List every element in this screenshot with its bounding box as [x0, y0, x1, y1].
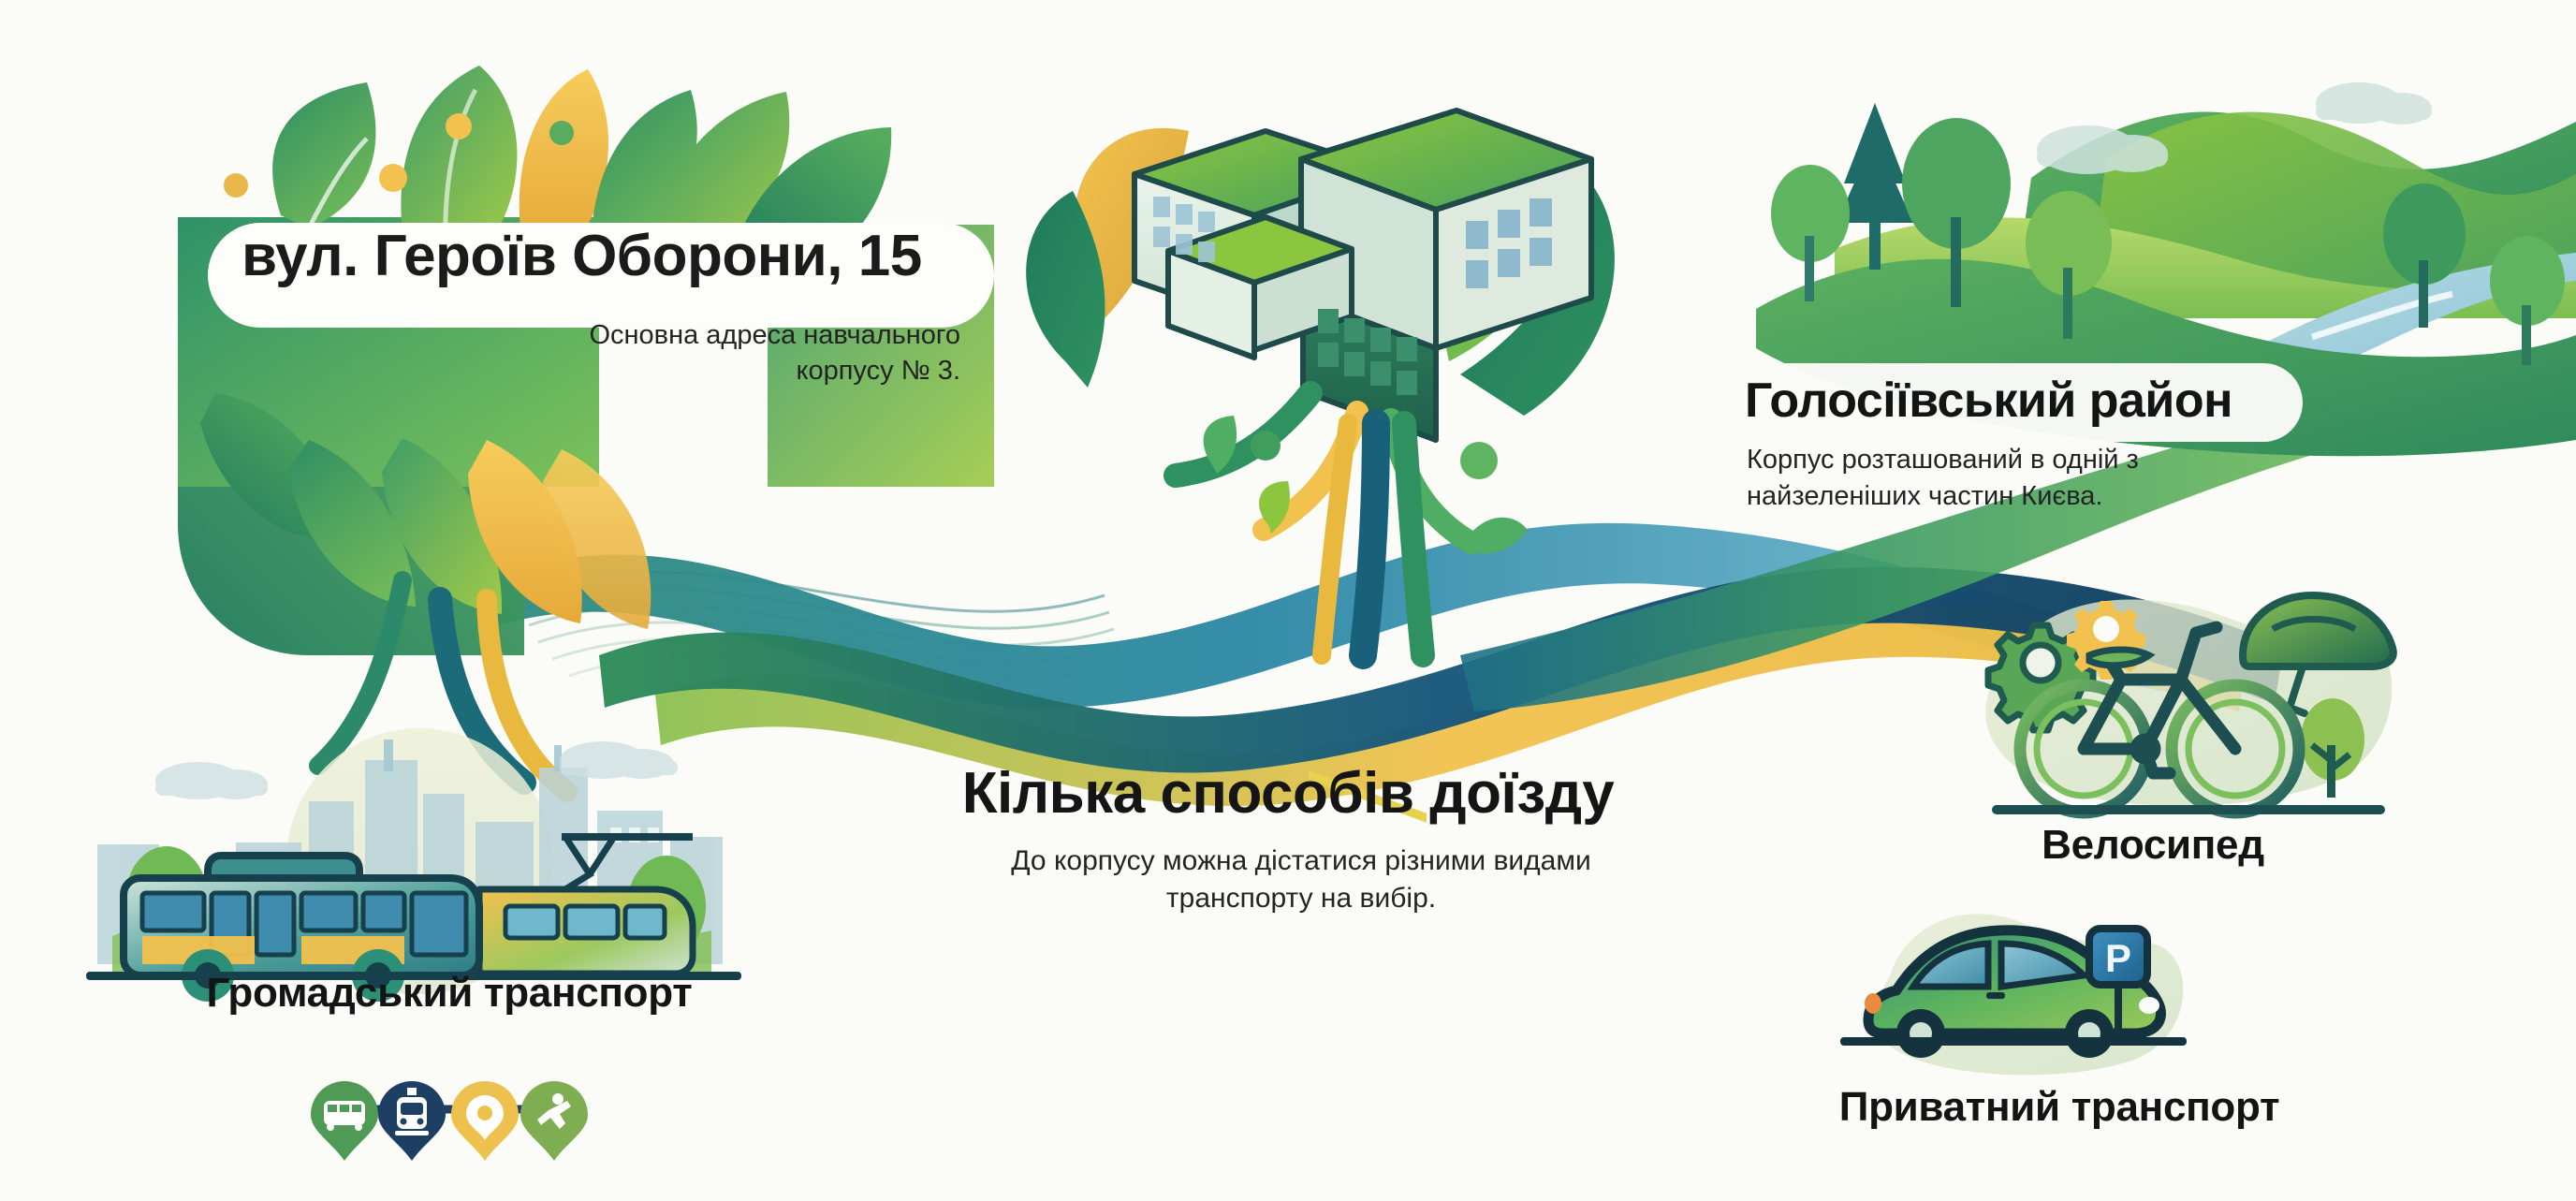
- transport-label-car: Приватний транспорт: [1816, 1084, 2303, 1130]
- svg-text:P: P: [2105, 936, 2131, 980]
- infographic-canvas: вул. Героїв Оборони, 15 Основна адреса н…: [0, 0, 2576, 1201]
- car-parking-sign-icon: P: [0, 0, 2576, 1201]
